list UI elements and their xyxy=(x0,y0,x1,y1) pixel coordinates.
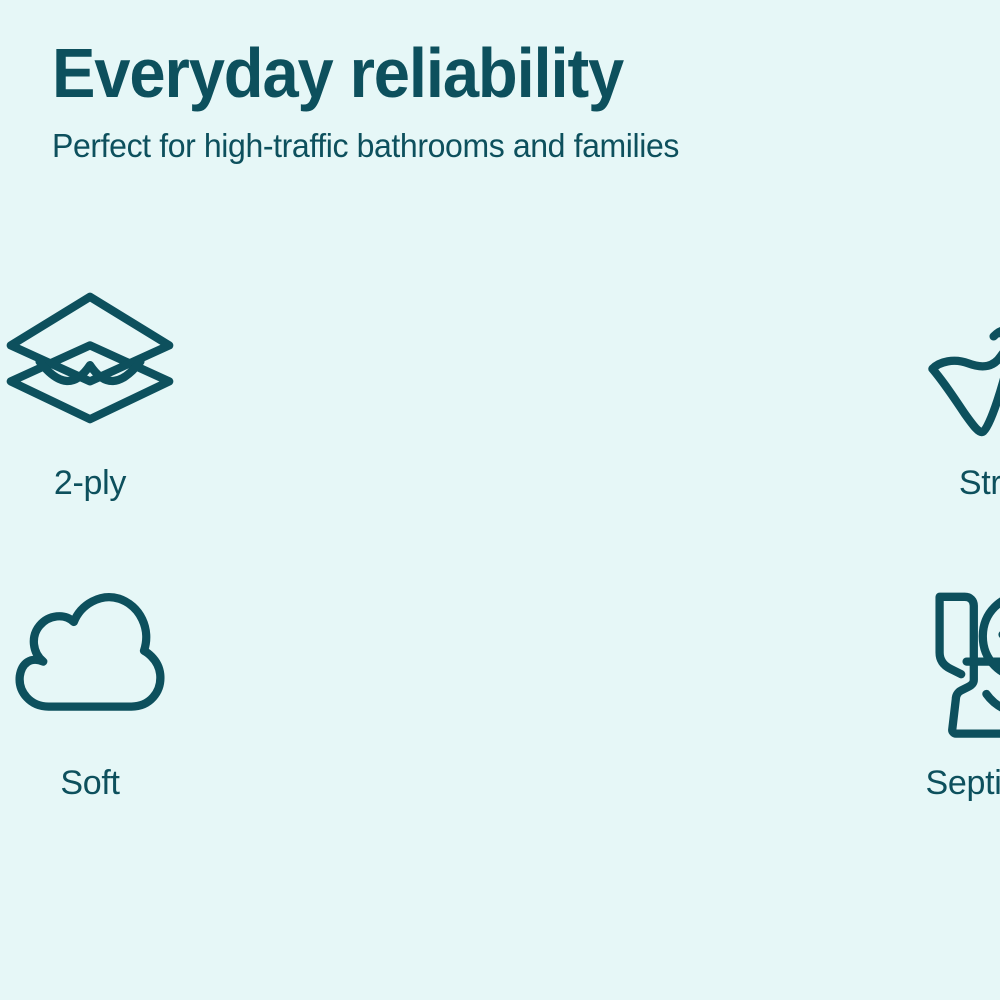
cloud-icon xyxy=(0,568,180,748)
wet-strength-icon xyxy=(918,268,1000,448)
page-title: Everyday reliability xyxy=(52,38,889,108)
feature-label-strong: Strong xyxy=(959,464,1000,503)
feature-item-strong: Strong xyxy=(546,268,1000,568)
feature-label-soft: Soft xyxy=(60,764,119,803)
header: Everyday reliability Perfect for high-tr… xyxy=(52,38,952,164)
feature-label-septic-safe: Septic safe xyxy=(926,764,1000,803)
infographic-page: Everyday reliability Perfect for high-tr… xyxy=(0,0,1000,1000)
page-subtitle: Perfect for high-traffic bathrooms and f… xyxy=(52,108,925,164)
toilet-check-icon xyxy=(918,568,1000,748)
feature-item-septic-safe: Septic safe xyxy=(546,568,1000,868)
layers-icon xyxy=(0,268,180,448)
feature-grid: 2-ply Strong So xyxy=(0,268,1000,868)
feature-item-2-ply: 2-ply xyxy=(0,268,546,568)
feature-item-soft: Soft xyxy=(0,568,546,868)
feature-label-2-ply: 2-ply xyxy=(54,464,126,503)
